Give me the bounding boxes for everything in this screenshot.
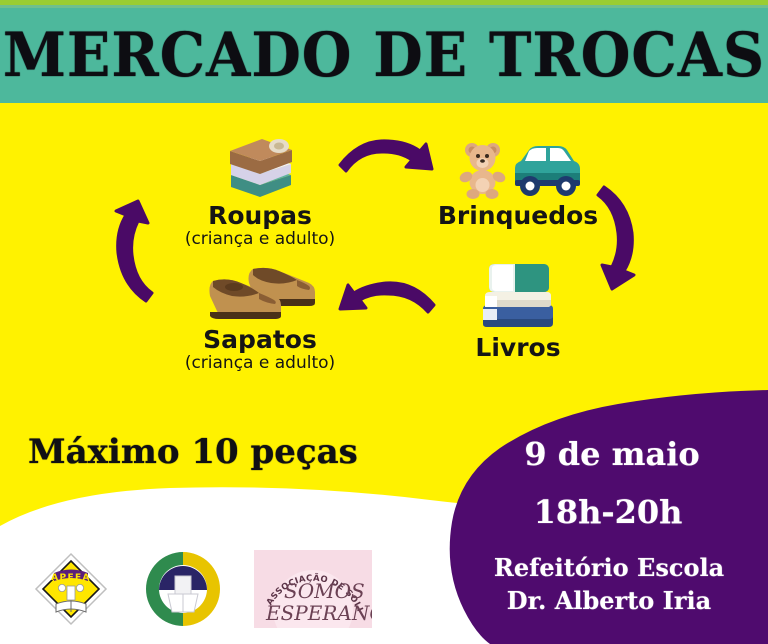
school-circle-logo xyxy=(144,550,222,628)
cycle-node-livros: Livros xyxy=(438,259,598,361)
somos-script-line1: SOMOS xyxy=(284,579,365,603)
cycle-sub-roupas: (criança e adulto) xyxy=(160,230,360,249)
arrow-up-icon xyxy=(106,199,162,311)
books-icon xyxy=(475,259,561,333)
toys-icon xyxy=(453,135,583,201)
cycle-label-roupas: Roupas xyxy=(160,203,360,229)
max-pieces-notice: Máximo 10 peças xyxy=(28,432,358,472)
cycle-label-sapatos: Sapatos xyxy=(160,327,360,353)
svg-text:APEEA: APEEA xyxy=(51,573,91,583)
somos-script-line2: ESPERANÇA xyxy=(265,601,372,625)
arrow-down-icon xyxy=(588,181,648,297)
cycle-node-roupas: Roupas (criança e adulto) xyxy=(160,135,360,249)
poster-canvas: MERCADO DE TROCAS xyxy=(0,0,768,644)
somos-esperanca-logo: ASSOCIAÇÃO DE SOLIDARIEDADE SOMOS ESPERA… xyxy=(254,550,372,628)
page-title: MERCADO DE TROCAS xyxy=(3,25,765,85)
cycle-sub-sapatos: (criança e adulto) xyxy=(160,354,360,373)
shoes-icon xyxy=(201,259,319,325)
arrow-right-icon xyxy=(336,129,444,191)
apeea-logo: APEEA xyxy=(30,548,112,630)
toy-car-icon xyxy=(515,146,580,196)
event-info-blob xyxy=(438,390,768,644)
folded-clothes-icon xyxy=(221,135,299,201)
exchange-cycle-diagram: Roupas (criança e adulto) xyxy=(0,109,768,409)
teddy-bear-icon xyxy=(458,143,507,199)
cycle-label-livros: Livros xyxy=(438,335,598,361)
arrow-left-icon xyxy=(330,269,440,323)
header-band: MERCADO DE TROCAS xyxy=(0,8,768,103)
partner-logos: APEEA xyxy=(30,548,372,630)
